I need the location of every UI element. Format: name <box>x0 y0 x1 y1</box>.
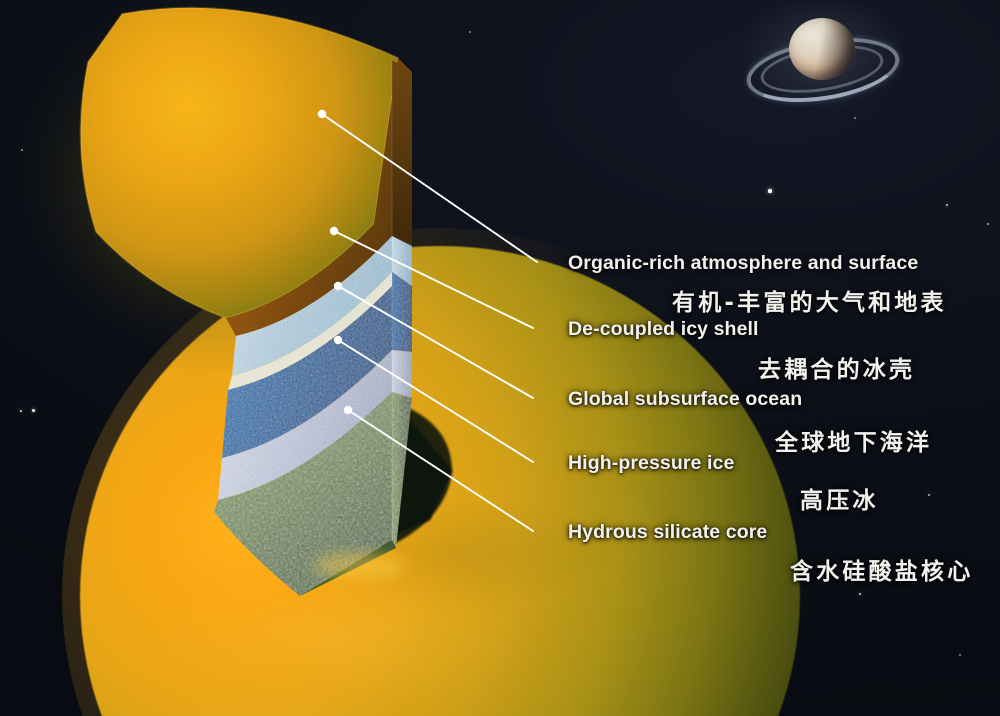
wedge-tip-glow <box>314 552 406 580</box>
layer-ocean-right-face <box>392 272 412 352</box>
leader-dot-atmosphere <box>318 110 326 118</box>
callout-label-cn-silicate-core: 含水硅酸盐核心 <box>790 552 973 586</box>
callout-label-cn-high-pressure-ice: 高压冰 <box>800 481 879 515</box>
callout-label-en-ocean: Global subsurface ocean <box>568 388 802 411</box>
callout-label-en-icy-shell: De-coupled icy shell <box>568 318 759 341</box>
callout-label-cn-ocean: 全球地下海洋 <box>775 423 932 457</box>
callout-label-en-high-pressure-ice: High-pressure ice <box>568 452 734 475</box>
leader-dot-silicate-core <box>344 406 352 414</box>
leader-dot-ocean <box>334 282 342 290</box>
layer-crust-right-face <box>392 60 412 246</box>
diagram-canvas: Organic-rich atmosphere and surface有机-丰富… <box>0 0 1000 716</box>
callout-label-cn-icy-shell: 去耦合的冰壳 <box>758 350 915 384</box>
callout-label-cn-atmosphere: 有机-丰富的大气和地表 <box>672 283 947 317</box>
callout-label-en-silicate-core: Hydrous silicate core <box>568 521 767 544</box>
callout-label-en-atmosphere: Organic-rich atmosphere and surface <box>568 252 918 275</box>
layer-hp-ice-right-face <box>392 350 412 398</box>
leader-dot-icy-shell <box>330 227 338 235</box>
leader-dot-high-pressure-ice <box>334 336 342 344</box>
